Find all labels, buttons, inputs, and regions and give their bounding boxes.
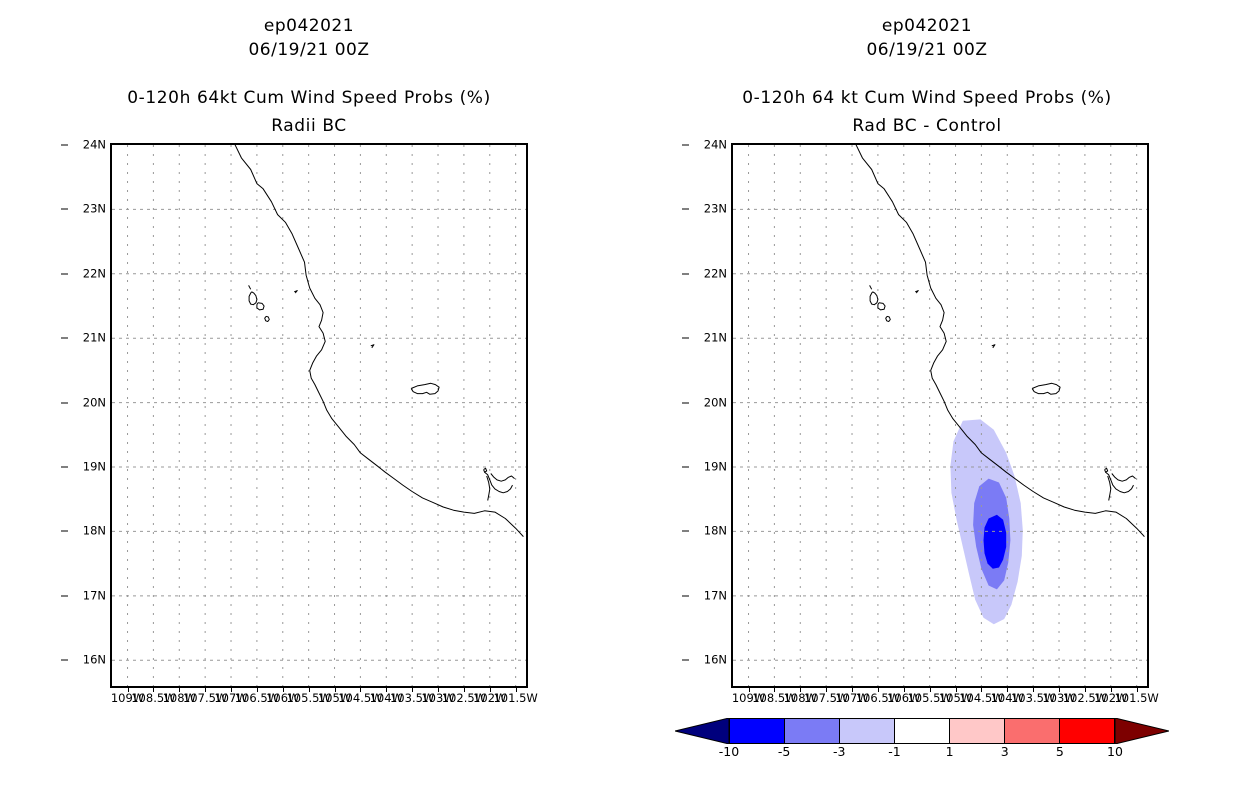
lat-tick-label: 20N <box>83 397 106 408</box>
lon-tick-mark <box>981 686 982 692</box>
lon-tick-mark <box>930 686 931 692</box>
lat-tick-mark <box>682 467 689 468</box>
colorbar-tick: -3 <box>833 745 845 759</box>
panel-title-right: 0-120h 64 kt Cum Wind Speed Probs (%) <box>618 88 1236 108</box>
lon-tick-mark <box>490 686 491 692</box>
lat-tick-mark <box>682 660 689 661</box>
lat-tick-mark <box>61 531 68 532</box>
lat-tick-mark <box>682 595 689 596</box>
lon-tick-mark <box>257 686 258 692</box>
lat-tick-mark <box>682 273 689 274</box>
lon-tick-mark <box>335 686 336 692</box>
longitude-axis-right: 109W108.5W108W107.5W107W106.5W106W105.5W… <box>731 692 1149 712</box>
lon-tick-label: 101.5W <box>1114 692 1158 705</box>
lat-tick-mark <box>682 531 689 532</box>
lon-tick-mark <box>386 686 387 692</box>
lat-tick-label: 16N <box>83 655 106 666</box>
lat-tick-mark <box>61 660 68 661</box>
colorbar-segment <box>950 719 1005 743</box>
lon-tick-mark <box>205 686 206 692</box>
colorbar-over-arrow <box>1115 718 1169 744</box>
lon-tick-mark <box>878 686 879 692</box>
lon-tick-mark <box>360 686 361 692</box>
colorbar-segment <box>1005 719 1060 743</box>
lat-tick-label: 24N <box>83 140 106 151</box>
colorbar-segment <box>1060 719 1114 743</box>
lon-tick-mark <box>1033 686 1034 692</box>
lon-tick-mark <box>179 686 180 692</box>
colorbar-segment <box>785 719 840 743</box>
lat-tick-label: 22N <box>704 268 727 279</box>
lat-tick-mark <box>682 209 689 210</box>
lon-tick-mark <box>826 686 827 692</box>
colorbar-tick: 3 <box>1001 745 1009 759</box>
map-frame-left <box>110 143 528 688</box>
colorbar-tick-labels: -10-5-3-113510 <box>729 745 1115 763</box>
lon-tick-mark <box>1111 686 1112 692</box>
lat-tick-mark <box>682 338 689 339</box>
lon-tick-mark <box>956 686 957 692</box>
lon-tick-mark <box>438 686 439 692</box>
lon-tick-mark <box>852 686 853 692</box>
colorbar-segment <box>730 719 785 743</box>
lat-tick-label: 21N <box>704 333 727 344</box>
lat-tick-mark <box>61 145 68 146</box>
lon-tick-mark <box>749 686 750 692</box>
lon-tick-mark <box>1007 686 1008 692</box>
storm-id-left: ep042021 <box>0 16 618 36</box>
lat-tick-label: 18N <box>704 526 727 537</box>
latitude-axis-right: 24N23N22N21N20N19N18N17N16N <box>689 143 727 688</box>
lat-tick-label: 19N <box>704 462 727 473</box>
lat-tick-mark <box>61 273 68 274</box>
lon-tick-mark <box>464 686 465 692</box>
lat-tick-mark <box>61 595 68 596</box>
lat-tick-label: 22N <box>83 268 106 279</box>
lon-tick-mark <box>231 686 232 692</box>
lat-tick-label: 20N <box>704 397 727 408</box>
lat-tick-label: 21N <box>83 333 106 344</box>
panel-radii-bc: ep042021 06/19/21 00Z 0-120h 64kt Cum Wi… <box>0 0 618 800</box>
colorbar-tick: 10 <box>1107 745 1123 759</box>
panel-title-left: 0-120h 64kt Cum Wind Speed Probs (%) <box>0 88 618 108</box>
longitude-axis-left: 109W108.5W108W107.5W107W106.5W106W105.5W… <box>110 692 528 712</box>
lon-tick-mark <box>774 686 775 692</box>
panel-rad-bc-minus-control: ep042021 06/19/21 00Z 0-120h 64 kt Cum W… <box>618 0 1236 800</box>
lon-tick-mark <box>309 686 310 692</box>
lon-tick-mark <box>800 686 801 692</box>
lat-tick-mark <box>61 209 68 210</box>
lon-tick-mark <box>153 686 154 692</box>
datetime-left: 06/19/21 00Z <box>0 40 618 60</box>
colorbar-tick: 1 <box>946 745 954 759</box>
lon-tick-mark <box>904 686 905 692</box>
lon-tick-mark <box>1085 686 1086 692</box>
lon-tick-mark <box>128 686 129 692</box>
lat-tick-mark <box>61 467 68 468</box>
lon-tick-mark <box>1059 686 1060 692</box>
lat-tick-mark <box>682 402 689 403</box>
lon-tick-mark <box>516 686 517 692</box>
colorbar-tick: -10 <box>719 745 739 759</box>
lat-tick-mark <box>61 402 68 403</box>
lon-tick-label: 101.5W <box>493 692 537 705</box>
lat-tick-label: 17N <box>83 590 106 601</box>
map-frame-right <box>731 143 1149 688</box>
colorbar-under-arrow <box>675 718 729 744</box>
storm-id-right: ep042021 <box>618 16 1236 36</box>
lon-tick-mark <box>1137 686 1138 692</box>
lon-tick-mark <box>283 686 284 692</box>
lat-tick-label: 16N <box>704 655 727 666</box>
colorbar-tick: -1 <box>888 745 900 759</box>
lat-tick-label: 18N <box>83 526 106 537</box>
lat-tick-mark <box>61 338 68 339</box>
colorbar-segments <box>729 718 1115 744</box>
lat-tick-label: 24N <box>704 140 727 151</box>
colorbar-segment <box>895 719 950 743</box>
colorbar-segment <box>840 719 895 743</box>
panel-subtitle-right: Rad BC - Control <box>618 116 1236 136</box>
panel-subtitle-left: Radii BC <box>0 116 618 136</box>
colorbar-tick: 5 <box>1056 745 1064 759</box>
lat-tick-mark <box>682 145 689 146</box>
lat-tick-label: 23N <box>83 204 106 215</box>
datetime-right: 06/19/21 00Z <box>618 40 1236 60</box>
lat-tick-label: 19N <box>83 462 106 473</box>
coastline-left <box>112 145 526 686</box>
lat-tick-label: 17N <box>704 590 727 601</box>
colorbar-tick: -5 <box>778 745 790 759</box>
lon-tick-mark <box>412 686 413 692</box>
colorbar: -10-5-3-113510 <box>675 718 1168 764</box>
coastline-right <box>733 145 1147 686</box>
lat-tick-label: 23N <box>704 204 727 215</box>
latitude-axis-left: 24N23N22N21N20N19N18N17N16N <box>68 143 106 688</box>
